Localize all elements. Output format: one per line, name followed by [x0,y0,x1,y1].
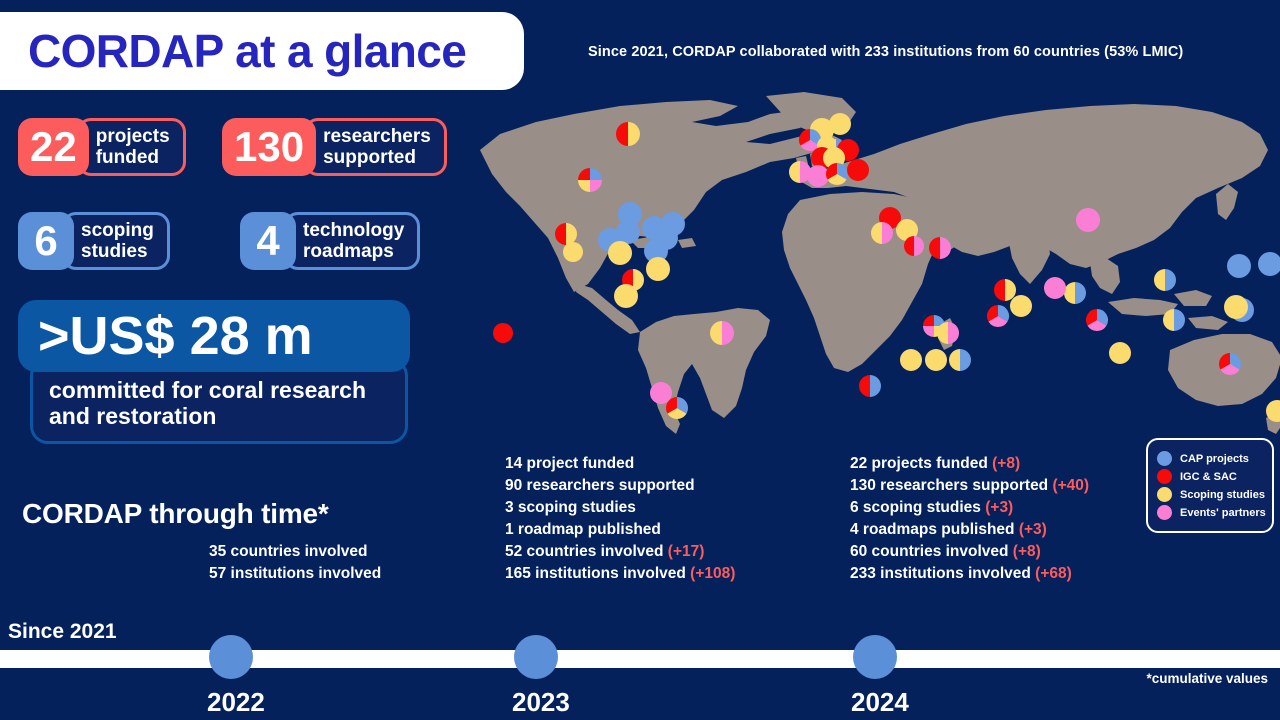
map-marker-pie [666,397,688,419]
map-marker-pie [578,168,602,192]
map-marker-pie [1109,342,1131,364]
timeline-fact-text: 3 scoping studies [505,499,636,516]
timeline-fact-line: 14 project funded [505,453,735,475]
world-map-svg [470,88,1280,458]
map-marker-pie [1076,208,1100,232]
timeline-fact-text: 22 projects funded [850,455,988,472]
timeline-fact-delta: (+3) [981,499,1013,516]
stat-label: researchers supported [304,118,447,176]
timeline-fact-line: 60 countries involved (+8) [850,541,1089,563]
map-marker-slice [949,349,960,371]
map-marker-slice [847,159,869,181]
stat-number: 130 [222,118,316,176]
timeline-fact-line: 90 researchers supported [505,475,735,497]
timeline-fact-text: 165 institutions involved [505,565,686,582]
map-marker-pie [650,382,672,404]
map-marker-slice [1076,208,1100,232]
map-marker-pie [493,323,513,343]
map-marker-slice [618,202,642,226]
map-marker-pie [1044,277,1066,299]
timeline-fact-delta: (+17) [664,543,705,560]
funding-amount: >US$ 28 m [18,300,410,372]
map-marker-slice [563,242,583,262]
map-marker-slice [960,349,971,371]
stat-number: 6 [18,212,74,270]
map-marker-pie [1064,282,1086,304]
map-marker-pie [1010,295,1032,317]
timeline-fact-text: 1 roadmap published [505,521,661,538]
timeline-fact-line: 57 institutions involved [209,563,381,585]
map-marker-pie [618,202,642,226]
stat-label-line1: technology [303,220,404,241]
timeline-heading: CORDAP through time* [22,498,329,530]
timeline-year: 2023 [512,687,570,718]
timeline-fact-text: 14 project funded [505,455,634,472]
timeline-fact-text: 130 researchers supported [850,477,1048,494]
map-marker-pie [859,375,881,397]
map-marker-pie [555,223,577,245]
stat-label-line1: researchers [323,126,431,147]
map-marker-pie [1258,252,1280,276]
timeline-dot [514,635,558,679]
timeline-fact-text: 57 institutions involved [209,565,381,582]
funding-highlight: >US$ 28 m committed for coral research a… [18,300,410,444]
timeline-fact-delta: (+68) [1031,565,1072,582]
map-marker-slice [923,326,934,337]
stat-label-line1: projects [96,126,170,147]
map-marker-slice [829,113,851,135]
map-marker-slice [1165,269,1176,291]
legend-row: IGC & SAC [1157,469,1263,484]
legend-row: CAP projects [1157,451,1263,466]
map-marker-slice [614,284,638,308]
map-marker-slice [900,349,922,371]
stat-label-line1: scoping [81,220,154,241]
map-marker-slice [661,212,685,236]
timeline-fact-line: 35 countries involved [209,541,381,563]
map-marker-slice [608,241,632,265]
map-marker-pie [994,279,1016,301]
map-marker-pie [987,305,1009,327]
map-marker-slice [948,322,959,344]
timeline-fact-text: 233 institutions involved [850,565,1031,582]
title-card: CORDAP at a glance [0,12,524,90]
map-marker-slice [789,161,800,183]
legend-swatch-icon [1157,451,1172,466]
map-marker-slice [493,323,513,343]
map-marker-slice [1154,269,1165,291]
map-marker-pie [847,159,869,181]
stat-label: projects funded [77,118,186,176]
map-marker-pie [608,241,632,265]
map-marker-pie [710,321,734,345]
map-marker-pie [929,237,951,259]
map-marker-pie [616,122,640,146]
timeline-fact-line: 3 scoping studies [505,497,735,519]
timeline-since-label: Since 2021 [8,620,117,644]
timeline-footnote: *cumulative values [1146,671,1268,686]
map-marker-slice [923,315,934,326]
timeline-year: 2022 [207,687,265,718]
map-marker-slice [870,375,881,397]
timeline-facts: 22 projects funded (+8)130 researchers s… [850,453,1089,585]
stat-label: scoping studies [62,212,170,270]
world-map [470,88,1280,458]
stat-card-projects-funded: 22 projects funded [18,118,186,176]
map-marker-pie [937,322,959,344]
map-marker-slice [1075,282,1086,304]
map-marker-pie [646,257,670,281]
map-marker-pie [1163,309,1185,331]
stat-label: technology roadmaps [284,212,420,270]
map-marker-pie [563,242,583,262]
map-marker-slice [1258,252,1280,276]
map-marker-pie [1224,295,1248,319]
stat-label-line2: funded [96,147,170,168]
map-marker-slice [650,382,672,404]
map-marker-slice [1109,342,1131,364]
timeline-fact-text: 4 roadmaps published [850,521,1015,538]
map-marker-slice [807,165,829,187]
timeline-fact-delta: (+108) [686,565,736,582]
timeline-fact-text: 90 researchers supported [505,477,695,494]
timeline-fact-line: 1 roadmap published [505,519,735,541]
legend-label: CAP projects [1180,453,1249,465]
map-marker-pie [949,349,971,371]
map-marker-pie [829,113,851,135]
stat-label-line2: roadmaps [303,241,404,262]
map-legend: CAP projectsIGC & SACScoping studiesEven… [1146,438,1274,533]
timeline-facts: 14 project funded90 researchers supporte… [505,453,735,585]
timeline-fact-line: 165 institutions involved (+108) [505,563,735,585]
stat-label-line2: studies [81,241,154,262]
timeline-fact-line: 52 countries involved (+17) [505,541,735,563]
map-marker-pie [661,212,685,236]
map-marker-pie [871,222,893,244]
stat-number: 4 [240,212,296,270]
legend-row: Events' partners [1157,505,1263,520]
stat-number: 22 [18,118,89,176]
map-landmasses [480,92,1280,446]
map-marker-pie [904,236,924,256]
timeline-fact-text: 60 countries involved [850,543,1009,560]
timeline-year: 2024 [851,687,909,718]
timeline-fact-line: 233 institutions involved (+68) [850,563,1089,585]
infographic-root: Since 2021, CORDAP collaborated with 233… [0,0,1280,720]
map-marker-slice [1174,309,1185,331]
page-title: CORDAP at a glance [28,28,466,74]
stat-card-technology-roadmaps: 4 technology roadmaps [240,212,420,270]
map-marker-slice [1044,277,1066,299]
map-marker-slice [1227,254,1251,278]
map-marker-pie [900,349,922,371]
legend-label: Events' partners [1180,507,1266,519]
stat-card-researchers-supported: 130 researchers supported [222,118,447,176]
timeline-facts: 35 countries involved57 institutions inv… [209,541,381,585]
legend-row: Scoping studies [1157,487,1263,502]
map-marker-slice [646,257,670,281]
legend-swatch-icon [1157,469,1172,484]
map-marker-pie [925,349,947,371]
map-marker-pie [1154,269,1176,291]
stat-card-scoping-studies: 6 scoping studies [18,212,170,270]
timeline-fact-line: 6 scoping studies (+3) [850,497,1089,519]
timeline-dot [209,635,253,679]
timeline-fact-text: 35 countries involved [209,543,368,560]
map-marker-slice [994,279,1005,301]
map-marker-slice [1010,295,1032,317]
legend-swatch-icon [1157,505,1172,520]
timeline-fact-delta: (+8) [1009,543,1041,560]
timeline-fact-line: 130 researchers supported (+40) [850,475,1089,497]
timeline-axis [0,650,1280,668]
legend-label: Scoping studies [1180,489,1265,501]
timeline-fact-text: 52 countries involved [505,543,664,560]
map-marker-pie [807,165,829,187]
timeline-dot [853,635,897,679]
timeline-fact-line: 4 roadmaps published (+3) [850,519,1089,541]
map-marker-pie [826,163,848,185]
map-marker-pie [614,284,638,308]
map-caption: Since 2021, CORDAP collaborated with 233… [588,44,1183,60]
legend-swatch-icon [1157,487,1172,502]
timeline-fact-line: 22 projects funded (+8) [850,453,1089,475]
timeline-fact-delta: (+40) [1048,477,1089,494]
map-marker-pie [1227,254,1251,278]
map-marker-slice [1224,295,1248,319]
map-marker-pie [1219,353,1241,375]
map-marker-slice [859,375,870,397]
stat-label-line2: supported [323,147,431,168]
timeline-fact-delta: (+3) [1015,521,1047,538]
timeline-fact-text: 6 scoping studies [850,499,981,516]
map-marker-slice [925,349,947,371]
map-marker-pie [1086,309,1108,331]
timeline-fact-delta: (+8) [988,455,1020,472]
legend-label: IGC & SAC [1180,471,1237,483]
